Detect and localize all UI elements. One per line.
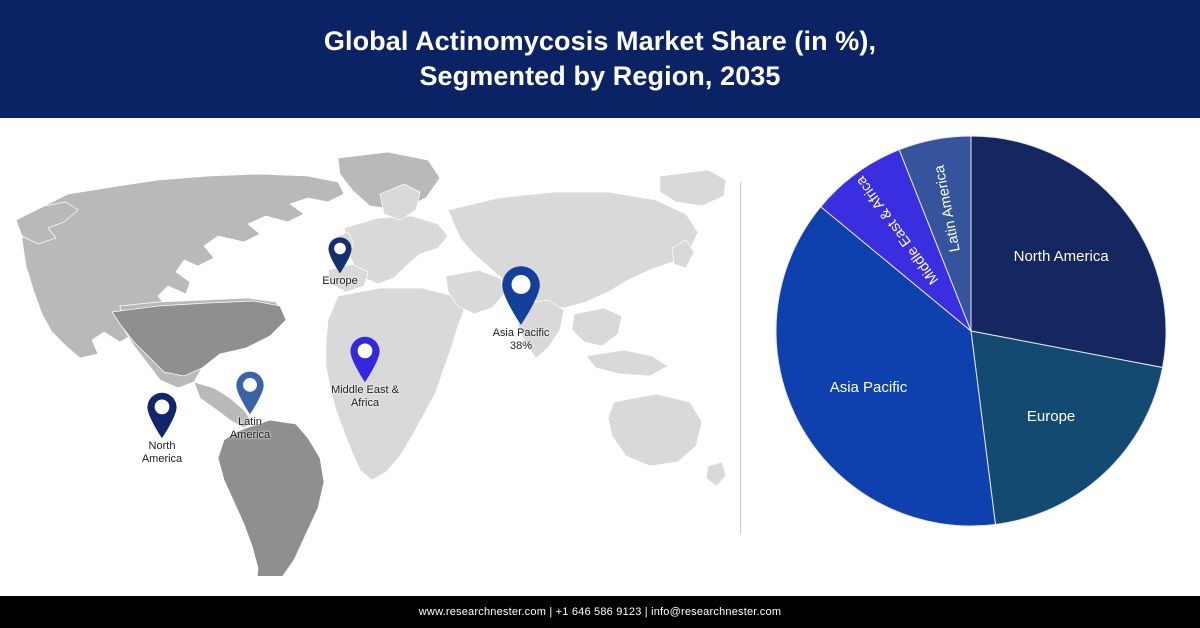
pie-chart: North AmericaEuropeAsia PacificMiddle Ea…	[758, 135, 1186, 535]
map-pin-north-america[interactable]: North America	[116, 391, 208, 466]
infographic-page: Global Actinomycosis Market Share (in %)…	[0, 0, 1200, 628]
map-pin-icon	[310, 335, 420, 383]
map-pin-asia-pacific[interactable]: Asia Pacific 38%	[466, 264, 576, 353]
map-pin-label: Middle East & Africa	[310, 384, 420, 410]
pie-slice-label: Asia Pacific	[830, 379, 908, 396]
header-banner: Global Actinomycosis Market Share (in %)…	[0, 0, 1200, 118]
map-pin-middle-east-africa[interactable]: Middle East & Africa	[310, 335, 420, 410]
map-panel: North America Europe Asia Pacific 38%	[0, 118, 738, 596]
pie-slice-label: North America	[1014, 248, 1110, 265]
content-area: North America Europe Asia Pacific 38%	[0, 118, 1200, 596]
map-pin-label: North America	[116, 440, 208, 466]
pie-chart-panel: North AmericaEuropeAsia PacificMiddle Ea…	[740, 118, 1200, 596]
map-pin-icon	[208, 370, 292, 415]
map-pin-label: Latin America	[208, 416, 292, 442]
map-pin-icon	[116, 391, 208, 439]
map-pin-value: 38%	[466, 340, 576, 353]
footer-bar: www.researchnester.com | +1 646 586 9123…	[0, 596, 1200, 628]
map-pin-icon	[466, 264, 576, 326]
page-title: Global Actinomycosis Market Share (in %)…	[284, 24, 916, 93]
map-pin-europe[interactable]: Europe	[300, 236, 380, 288]
map-pin-label: Asia Pacific	[466, 327, 576, 340]
map-pin-latin-america[interactable]: Latin America	[208, 370, 292, 442]
map-pin-label: Europe	[300, 275, 380, 288]
footer-contact-text: www.researchnester.com | +1 646 586 9123…	[419, 606, 781, 618]
map-pin-icon	[300, 236, 380, 274]
pie-slices[interactable]	[776, 136, 1166, 526]
pie-slice-label: Europe	[1027, 408, 1075, 425]
